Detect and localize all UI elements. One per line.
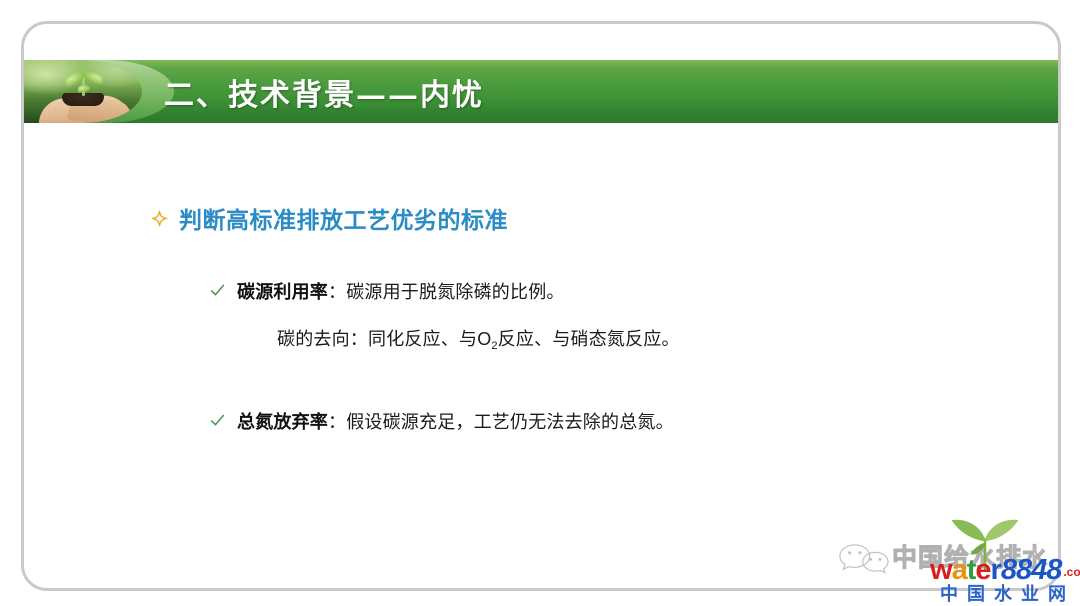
bullet-text: 总氮放弃率：假设碳源充足，工艺仍无法去除的总氮。: [237, 408, 674, 434]
bullet-term: 碳源利用率: [237, 282, 328, 302]
header-banner: 二、技术背景——内忧: [24, 60, 1061, 123]
slide-root: 二、技术背景——内忧 判断高标准排放工艺优劣的标准 碳源利用率：碳源用于脱氮除磷…: [0, 0, 1080, 606]
seedling-photo: [24, 60, 142, 123]
check-icon: [210, 283, 225, 298]
diamond-bullet-icon: [151, 210, 168, 227]
sub-line-subscript: 2: [491, 340, 497, 352]
bullet-description: 碳源用于脱氮除磷的比例。: [346, 282, 564, 302]
bullet-separator: ：: [328, 282, 346, 302]
bullet-item-tn-abandonment: 总氮放弃率：假设碳源充足，工艺仍无法去除的总氮。: [210, 408, 674, 434]
bullet-item-carbon-utilization: 碳源利用率：碳源用于脱氮除磷的比例。: [210, 278, 565, 304]
bullet-term: 总氮放弃率: [237, 412, 328, 432]
bullet-description: 假设碳源充足，工艺仍无法去除的总氮。: [346, 412, 674, 432]
check-icon: [210, 413, 225, 428]
brand-tld: .com: [1063, 565, 1080, 579]
bullet-text: 碳源利用率：碳源用于脱氮除磷的比例。: [237, 278, 565, 304]
section-heading: 判断高标准排放工艺优劣的标准: [151, 201, 508, 235]
sub-line-carbon-fate: 碳的去向：同化反应、与O2反应、与硝态氮反应。: [277, 325, 680, 351]
sub-line-label: 碳的去向：同化反应、与O: [277, 329, 491, 349]
slide-title: 二、技术背景——内忧: [164, 60, 484, 123]
slide-frame: 二、技术背景——内忧 判断高标准排放工艺优劣的标准 碳源利用率：碳源用于脱氮除磷…: [21, 21, 1061, 591]
sub-line-tail: 反应、与硝态氮反应。: [498, 329, 680, 349]
bullet-separator: ：: [328, 412, 346, 432]
section-heading-text: 判断高标准排放工艺优劣的标准: [179, 201, 508, 235]
